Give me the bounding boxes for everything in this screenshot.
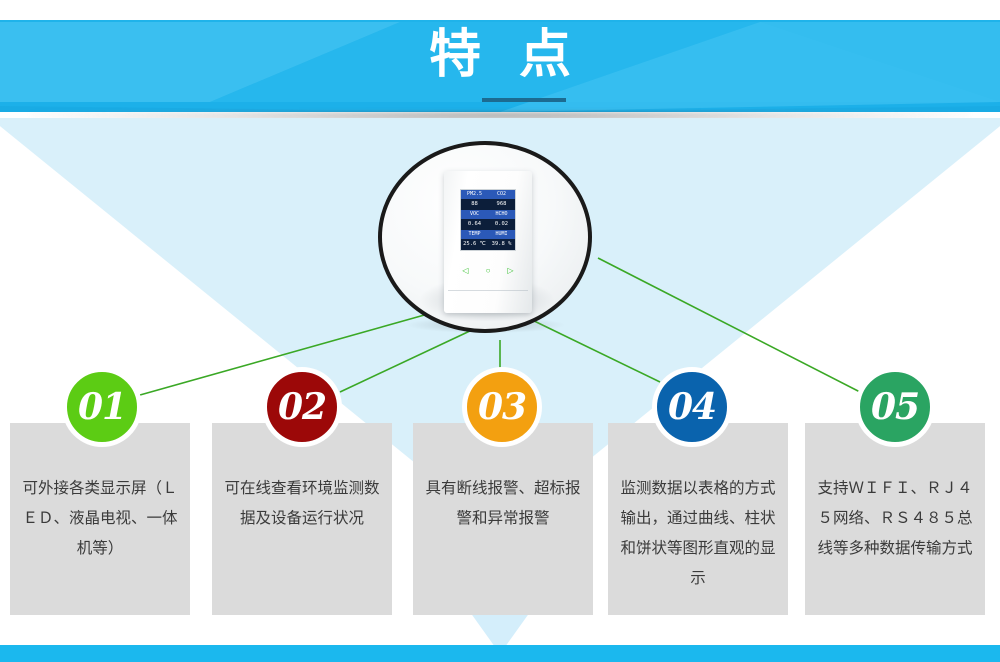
device-body: PM2.5 CO2 88 968 VOC HCHO 0.64 0.02 xyxy=(444,171,532,313)
infographic-page: 特 点 PM2.5 CO2 xyxy=(0,0,1000,662)
right-arrow-icon[interactable]: ▷ xyxy=(507,267,513,275)
left-arrow-icon[interactable]: ◁ xyxy=(462,267,468,275)
feature-card-05: 支持ＷＩＦＩ、ＲＪ４５网络、ＲＳ４８５总线等多种数据传输方式 xyxy=(805,423,985,615)
lcd-label-pm25: PM2.5 xyxy=(461,190,488,199)
lcd-value-row-1: 88 968 xyxy=(461,199,515,210)
feature-badge-02: 02 xyxy=(262,367,342,447)
feature-text-01: 可外接各类显示屏（ＬＥＤ、液晶电视、一体机等） xyxy=(22,473,178,563)
device-photo: PM2.5 CO2 88 968 VOC HCHO 0.64 0.02 xyxy=(378,141,600,341)
feature-card-03: 具有断线报警、超标报警和异常报警 xyxy=(413,423,593,615)
circle-ok-icon[interactable]: ○ xyxy=(486,267,491,275)
feature-badge-01: 01 xyxy=(62,367,142,447)
lcd-value-row-2: 0.64 0.02 xyxy=(461,219,515,230)
lcd-label-humi: HUMI xyxy=(488,230,515,239)
lcd-label-hcho: HCHO xyxy=(488,210,515,219)
feature-text-03: 具有断线报警、超标报警和异常报警 xyxy=(425,473,581,533)
lcd-value-pm25: 88 xyxy=(461,199,488,210)
lcd-value-hcho: 0.02 xyxy=(488,219,515,230)
feature-card-04: 监测数据以表格的方式输出，通过曲线、柱状和饼状等图形直观的显示 xyxy=(608,423,788,615)
lcd-label-voc: VOC xyxy=(461,210,488,219)
feature-text-05: 支持ＷＩＦＩ、ＲＪ４５网络、ＲＳ４８５总线等多种数据传输方式 xyxy=(817,473,973,563)
lcd-value-temp: 25.6 ℃ xyxy=(461,239,488,250)
feature-card-01: 可外接各类显示屏（ＬＥＤ、液晶电视、一体机等） xyxy=(10,423,190,615)
device-circle-frame: PM2.5 CO2 88 968 VOC HCHO 0.64 0.02 xyxy=(378,141,592,333)
feature-badge-05: 05 xyxy=(855,367,935,447)
feature-card-02: 可在线查看环境监测数据及设备运行状况 xyxy=(212,423,392,615)
feature-text-02: 可在线查看环境监测数据及设备运行状况 xyxy=(224,473,380,533)
feature-text-04: 监测数据以表格的方式输出，通过曲线、柱状和饼状等图形直观的显示 xyxy=(620,473,776,593)
lcd-header-row-3: TEMP HUMI xyxy=(461,230,515,239)
device-lcd-screen: PM2.5 CO2 88 968 VOC HCHO 0.64 0.02 xyxy=(460,189,516,251)
lcd-value-row-3: 25.6 ℃ 39.8 % xyxy=(461,239,515,250)
lcd-value-humi: 39.8 % xyxy=(488,239,515,250)
device-key-row[interactable]: ◁ ○ ▷ xyxy=(444,267,532,275)
lcd-label-temp: TEMP xyxy=(461,230,488,239)
footer-bar xyxy=(0,645,1000,662)
lcd-value-co2: 968 xyxy=(488,199,515,210)
lcd-header-row-1: PM2.5 CO2 xyxy=(461,190,515,199)
lcd-value-voc: 0.64 xyxy=(461,219,488,230)
lcd-header-row-2: VOC HCHO xyxy=(461,210,515,219)
feature-badge-03: 03 xyxy=(462,367,542,447)
lcd-label-co2: CO2 xyxy=(488,190,515,199)
feature-badge-04: 04 xyxy=(652,367,732,447)
